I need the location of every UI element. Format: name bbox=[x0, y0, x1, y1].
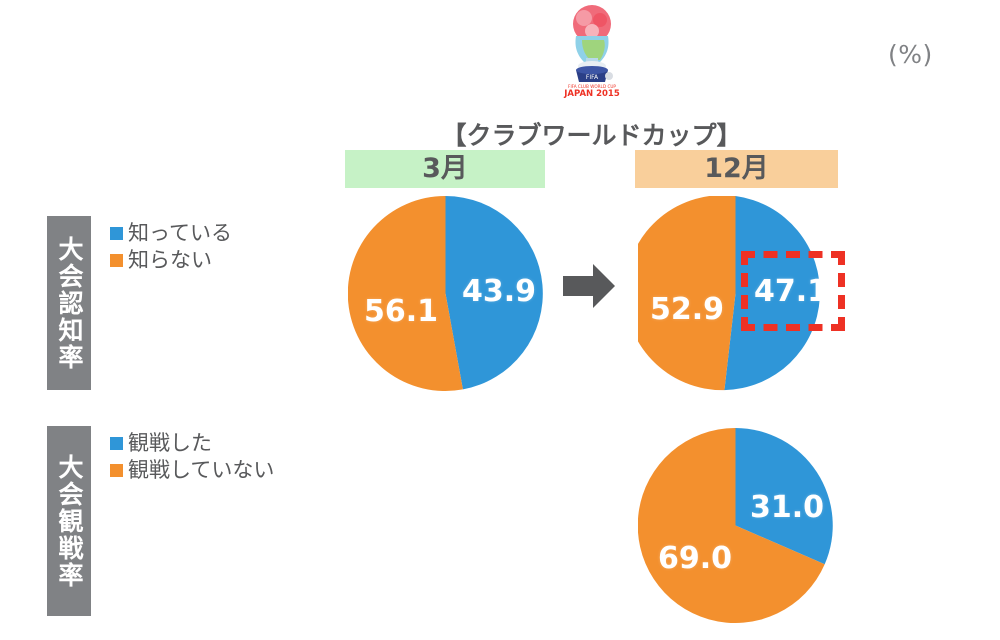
highlight-dashed-box bbox=[741, 251, 845, 331]
logo-text-bottom: JAPAN 2015 bbox=[563, 89, 620, 99]
legend-swatch-orange-icon bbox=[110, 254, 123, 267]
svg-text:FIFA: FIFA bbox=[586, 74, 599, 81]
column-header-december: 12月 bbox=[635, 150, 838, 188]
page-title: 【クラブワールドカップ】 bbox=[345, 116, 838, 152]
pie-value-orange: 69.0 bbox=[658, 541, 732, 576]
legend-item-dontknow: 知らない bbox=[110, 247, 232, 274]
trophy-logo-icon: FIFA FIFA CLUB WORLD CUP JAPAN 2015 bbox=[556, 0, 628, 100]
legend-item-watched: 観戦した bbox=[110, 430, 274, 457]
percent-unit-label: (%) bbox=[888, 40, 933, 69]
legend-swatch-blue-icon bbox=[110, 437, 123, 450]
legend-label-dontknow: 知らない bbox=[128, 247, 212, 274]
pie-chart-viewership-december: 31.0 69.0 bbox=[638, 428, 833, 623]
legend-label-watched: 観戦した bbox=[128, 430, 212, 457]
legend-swatch-orange-icon bbox=[110, 464, 123, 477]
right-arrow-icon bbox=[563, 262, 615, 310]
chart-canvas: FIFA FIFA CLUB WORLD CUP JAPAN 2015 (%) … bbox=[0, 0, 1000, 640]
club-world-cup-logo: FIFA FIFA CLUB WORLD CUP JAPAN 2015 bbox=[556, 0, 628, 100]
legend-item-know: 知っている bbox=[110, 220, 232, 247]
pie-svg-viewership-december bbox=[638, 428, 833, 623]
pie-value-orange: 56.1 bbox=[364, 294, 438, 329]
legend-label-know: 知っている bbox=[128, 220, 232, 247]
pie-value-blue: 31.0 bbox=[750, 490, 824, 525]
legend-item-notwatched: 観戦していない bbox=[110, 457, 274, 484]
legend-label-notwatched: 観戦していない bbox=[128, 457, 274, 484]
legend-awareness: 知っている 知らない bbox=[110, 220, 232, 274]
legend-swatch-blue-icon bbox=[110, 227, 123, 240]
row-label-viewership: 大会観戦率 bbox=[47, 426, 91, 616]
pie-chart-awareness-march: 43.9 56.1 bbox=[348, 196, 543, 391]
pie-value-blue: 43.9 bbox=[462, 274, 536, 309]
pie-value-orange: 52.9 bbox=[650, 292, 724, 327]
column-header-march: 3月 bbox=[345, 150, 545, 188]
legend-viewership: 観戦した 観戦していない bbox=[110, 430, 274, 484]
row-label-awareness: 大会認知率 bbox=[47, 216, 91, 390]
